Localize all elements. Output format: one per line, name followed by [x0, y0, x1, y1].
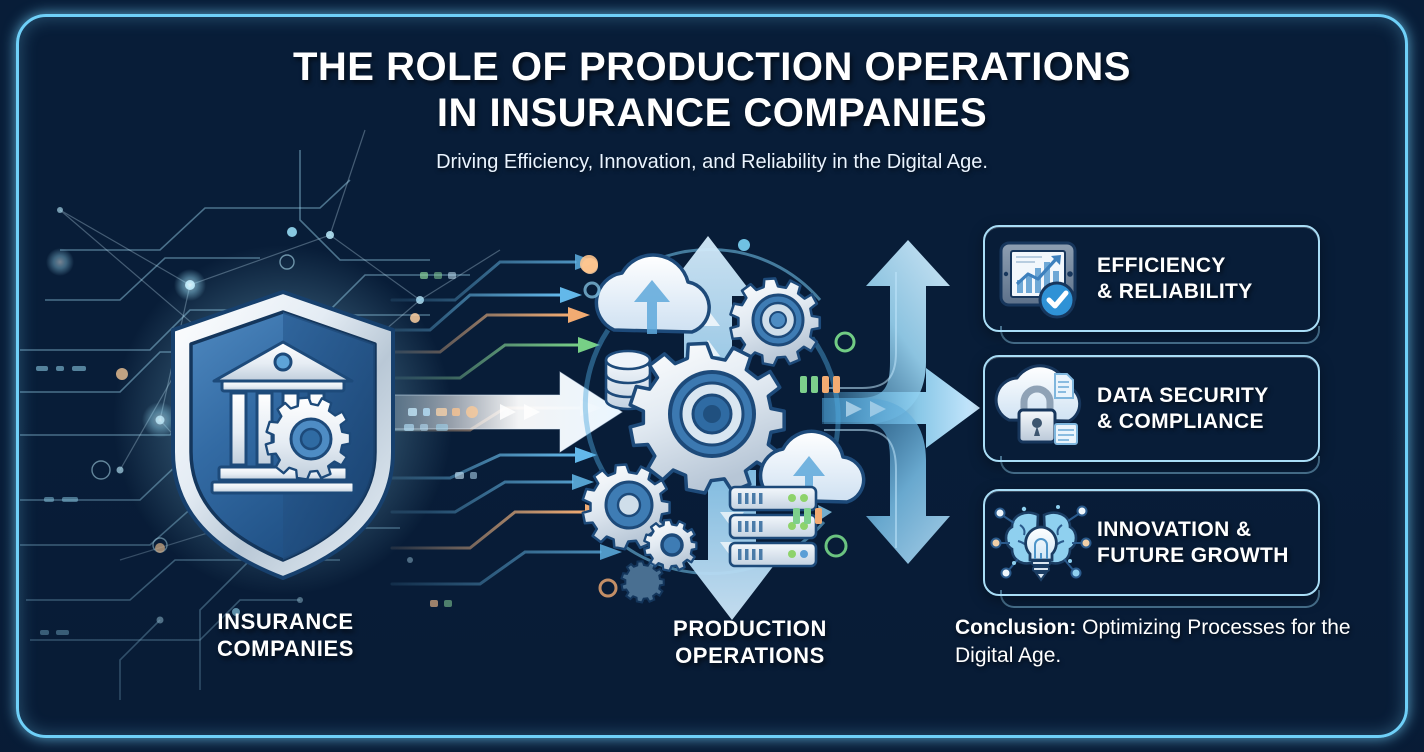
title-line-1: THE ROLE OF PRODUCTION OPERATIONS: [293, 45, 1131, 89]
source-label-line-2: COMPANIES: [217, 636, 354, 661]
page-title: THE ROLE OF PRODUCTION OPERATIONS IN INS…: [0, 44, 1424, 136]
title-line-2: IN INSURANCE COMPANIES: [437, 91, 987, 135]
card-2-line-1: DATA SECURITY: [1097, 384, 1269, 407]
brain-lightbulb-icon: [985, 491, 1097, 594]
outcome-card-label: DATA SECURITY & COMPLIANCE: [1097, 383, 1269, 435]
source-node-label: INSURANCE COMPANIES: [148, 608, 423, 662]
card-1-line-1: EFFICIENCY: [1097, 254, 1226, 277]
card-3-line-2: FUTURE GROWTH: [1097, 544, 1289, 567]
cloud-lock-document-icon: [985, 357, 1097, 460]
outcome-card-innovation[interactable]: INNOVATION & FUTURE GROWTH: [983, 489, 1320, 596]
process-node-label: PRODUCTION OPERATIONS: [560, 615, 940, 669]
card-1-line-2: & RELIABILITY: [1097, 280, 1253, 303]
outcome-card-label: EFFICIENCY & RELIABILITY: [1097, 253, 1253, 305]
outcome-card-label: INNOVATION & FUTURE GROWTH: [1097, 517, 1289, 569]
page-subtitle: Driving Efficiency, Innovation, and Reli…: [0, 150, 1424, 174]
outcome-card-efficiency[interactable]: EFFICIENCY & RELIABILITY: [983, 225, 1320, 332]
process-label-line-1: PRODUCTION: [673, 616, 827, 641]
process-label-line-2: OPERATIONS: [675, 643, 825, 668]
infographic-canvas: THE ROLE OF PRODUCTION OPERATIONS IN INS…: [0, 0, 1424, 752]
page-header: THE ROLE OF PRODUCTION OPERATIONS IN INS…: [0, 44, 1424, 174]
card-3-line-1: INNOVATION &: [1097, 518, 1252, 541]
tablet-chart-check-icon: [985, 227, 1097, 330]
card-2-line-2: & COMPLIANCE: [1097, 410, 1264, 433]
conclusion-lead: Conclusion:: [955, 616, 1076, 639]
source-label-line-1: INSURANCE: [217, 609, 353, 634]
conclusion-text: Conclusion: Optimizing Processes for the…: [955, 614, 1355, 670]
outcome-card-data-security[interactable]: DATA SECURITY & COMPLIANCE: [983, 355, 1320, 462]
